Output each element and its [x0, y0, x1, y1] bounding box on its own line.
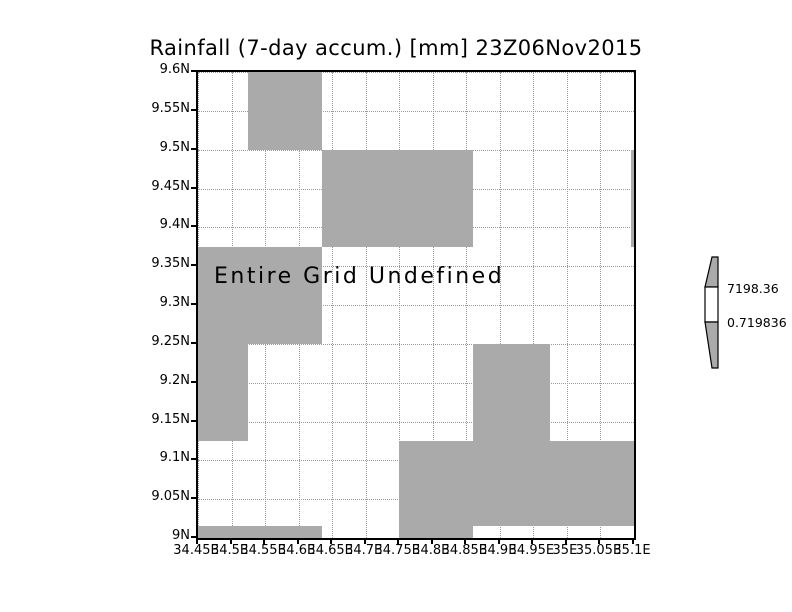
y-tick-mark	[191, 109, 197, 111]
y-tick-mark	[191, 497, 197, 499]
undefined-region-block	[631, 150, 634, 247]
y-tick-label: 9.55N	[151, 101, 190, 116]
y-tick-label: 9N	[172, 528, 190, 543]
y-tick-label: 9.05N	[151, 489, 190, 504]
colorbar-bottom-arrow	[705, 322, 718, 368]
y-tick-mark	[191, 420, 197, 422]
y-tick-mark	[191, 225, 197, 227]
y-tick-mark	[191, 381, 197, 383]
page-title: Rainfall (7-day accum.) [mm] 23Z06Nov201…	[0, 36, 792, 60]
y-tick-mark	[191, 342, 197, 344]
undefined-region-block	[198, 247, 322, 344]
x-tick-label: 34.95E	[509, 543, 554, 558]
colorbar-legend: 7198.36 0.719836	[700, 255, 790, 370]
y-tick-mark	[191, 148, 197, 150]
undefined-region-block	[399, 526, 473, 538]
x-tick-label: 35E	[553, 543, 578, 558]
colorbar-top-arrow	[705, 257, 718, 287]
plot-frame	[196, 70, 636, 540]
y-tick-mark	[191, 458, 197, 460]
entire-grid-undefined-text: Entire Grid Undefined	[214, 264, 504, 289]
y-tick-label: 9.25N	[151, 334, 190, 349]
undefined-region-block	[322, 150, 473, 247]
undefined-region-block	[399, 441, 634, 526]
colorbar-max-label: 7198.36	[727, 281, 779, 296]
x-axis-labels: 34.45E34.5E34.55E34.6E34.65E34.7E34.75E3…	[196, 543, 632, 563]
y-tick-label: 9.45N	[151, 179, 190, 194]
undefined-region-block	[198, 344, 248, 441]
undefined-region-block	[473, 344, 550, 441]
colorbar-min-label: 0.719836	[727, 315, 787, 330]
y-tick-label: 9.3N	[160, 295, 190, 310]
y-tick-label: 9.15N	[151, 412, 190, 427]
y-tick-label: 9.6N	[160, 62, 190, 77]
gridline-horizontal	[198, 422, 634, 423]
y-tick-label: 9.35N	[151, 256, 190, 271]
y-tick-label: 9.2N	[160, 373, 190, 388]
y-tick-mark	[191, 70, 197, 72]
y-tick-label: 9.1N	[160, 450, 190, 465]
undefined-region-block	[198, 526, 322, 538]
colorbar-middle-band	[705, 287, 718, 322]
gridline-horizontal	[198, 383, 634, 384]
y-tick-label: 9.4N	[160, 217, 190, 232]
y-axis-labels: 9.6N9.55N9.5N9.45N9.4N9.35N9.3N9.25N9.2N…	[140, 70, 190, 536]
gridline-horizontal	[198, 344, 634, 345]
y-tick-mark	[191, 303, 197, 305]
x-tick-label: 35.1E	[613, 543, 650, 558]
plot-canvas: Rainfall (7-day accum.) [mm] 23Z06Nov201…	[0, 0, 792, 612]
colorbar-shape	[700, 255, 730, 370]
undefined-region-block	[248, 72, 322, 150]
y-tick-label: 9.5N	[160, 140, 190, 155]
y-tick-mark	[191, 187, 197, 189]
plot-area	[198, 72, 634, 538]
y-tick-mark	[191, 264, 197, 266]
